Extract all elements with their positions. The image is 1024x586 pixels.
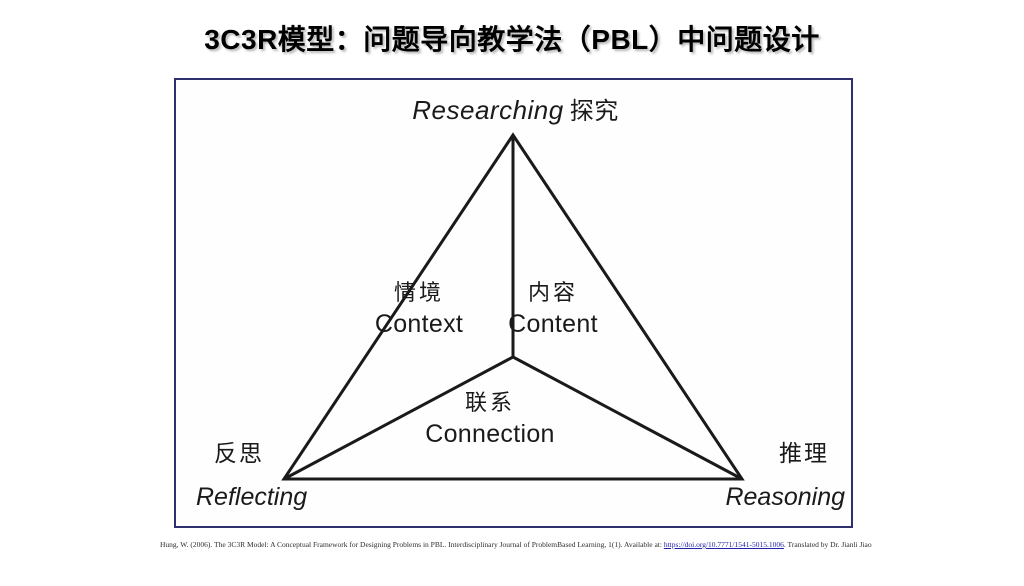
citation-text-after: . Translated by Dr. Jianli Jiao <box>784 540 872 549</box>
vertex-label-reflecting-cn: 反思 <box>196 440 366 467</box>
page-title: 3C3R模型：问题导向教学法（PBL）中问题设计 <box>0 18 1024 58</box>
diagram-frame: Researching探究 情境 Context 内容 Content 联系 C… <box>174 78 853 528</box>
vertex-label-reflecting: 反思 Reflecting <box>196 440 366 513</box>
sector-label-context: 情境 Context <box>354 280 484 339</box>
vertex-label-reasoning: 推理 Reasoning <box>665 440 845 513</box>
vertex-label-researching-cn: 探究 <box>564 98 619 125</box>
vertex-label-reflecting-en: Reflecting <box>196 483 366 513</box>
sector-label-connection-cn: 联系 <box>395 390 585 416</box>
sector-label-connection-en: Connection <box>395 420 585 450</box>
sector-label-content: 内容 Content <box>488 280 618 339</box>
sector-label-content-cn: 内容 <box>488 280 618 306</box>
sector-label-context-en: Context <box>354 310 484 340</box>
sector-label-connection: 联系 Connection <box>395 390 585 449</box>
sector-label-context-cn: 情境 <box>354 280 484 306</box>
vertex-label-reasoning-cn: 推理 <box>665 440 845 467</box>
sector-label-content-en: Content <box>488 310 618 340</box>
vertex-label-reasoning-en: Reasoning <box>665 483 845 513</box>
citation: Hung, W. (2006). The 3C3R Model: A Conce… <box>160 540 950 550</box>
citation-doi-link[interactable]: https://doi.org/10.7771/1541-5015.1006 <box>664 540 784 549</box>
vertex-label-researching-en: Researching <box>412 95 563 125</box>
citation-text-before: Hung, W. (2006). The 3C3R Model: A Conce… <box>160 540 664 549</box>
vertex-label-researching: Researching探究 <box>176 95 855 126</box>
